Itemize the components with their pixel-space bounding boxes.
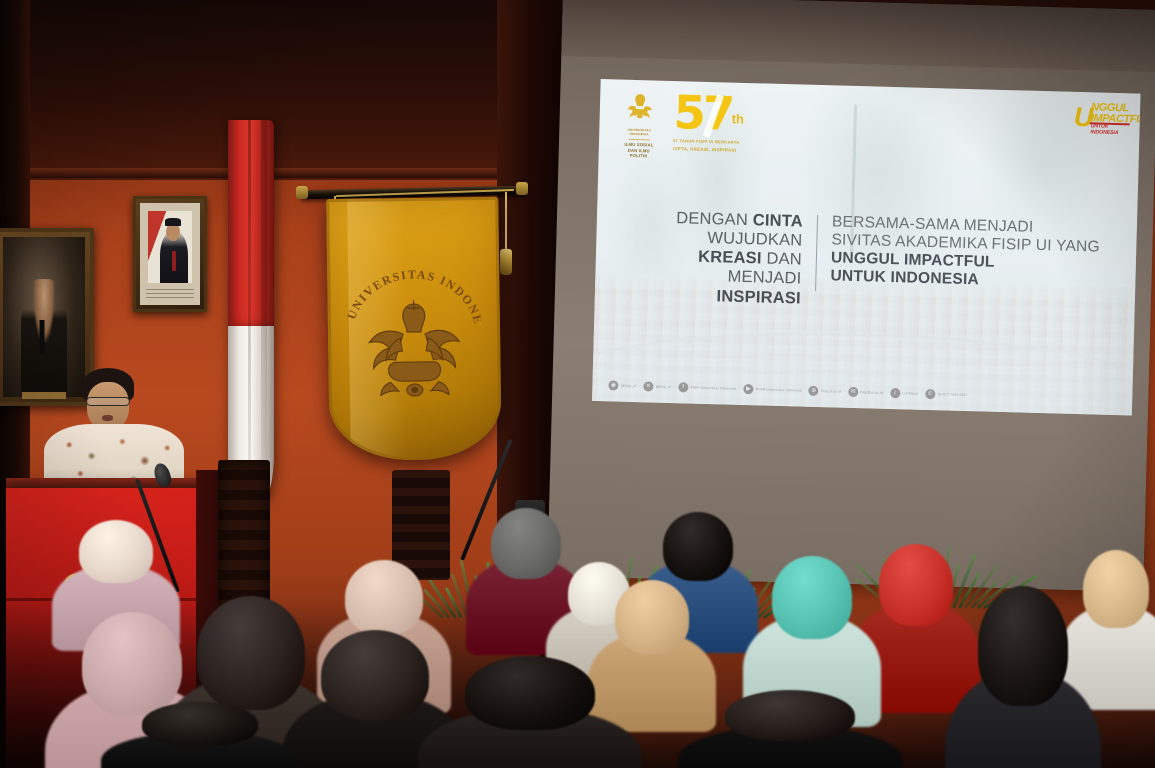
social-x-twitter: ✕@fisip_ui	[643, 381, 671, 392]
audience-person	[120, 702, 280, 768]
social-tiktok: ♪t.ui.fisipui	[890, 388, 919, 399]
social-handle-text: fisip.ui.ac.id	[821, 389, 841, 394]
social-handle-text: fisip@ui.ac.id	[860, 390, 882, 395]
speaker-mouth	[102, 415, 113, 421]
social-handle-text: @fisip_ui	[621, 384, 636, 388]
social-youtube: ▶FISIP Universitas Indonesia	[743, 384, 802, 396]
slide-headline-right: BERSAMA-SAMA MENJADI SIVITAS AKADEMIKA F…	[830, 213, 1101, 316]
headline-l1-bold: CINTA	[753, 211, 804, 230]
unggul-impactful-logo: U NGGUL IMPACTFUL UNTUK INDONESIA	[1073, 98, 1130, 145]
banner-rod-cap-right	[516, 182, 528, 195]
audience-person	[64, 520, 168, 616]
email-icon: ✉	[848, 387, 858, 397]
anniversary-caption-1: 57 TAHUN FISIP UI BERKARYA	[673, 138, 813, 147]
anniversary-suffix: th	[731, 111, 744, 126]
audience-person	[864, 544, 968, 668]
x-twitter-icon: ✕	[643, 381, 653, 391]
facebook-icon: f	[678, 382, 688, 392]
presentation-slide: UNIVERSITAS INDONESIA ILMU SOSIAL DAN IL…	[592, 79, 1141, 415]
portrait-caption	[146, 289, 194, 299]
social-whatsapp: ✆62 817 7425 0567	[925, 389, 968, 400]
instagram-icon: ◉	[608, 380, 618, 390]
headline-r4-bold: UNTUK INDONESIA	[830, 268, 979, 289]
audience-head	[1083, 550, 1149, 628]
presidential-portrait	[133, 196, 207, 312]
audience-head	[197, 596, 305, 710]
flag-fold	[248, 120, 251, 502]
banner-border	[326, 197, 502, 461]
anniversary-caption-2: CIPTA, KREASI, INSPIRASI	[673, 146, 813, 155]
social-instagram: ◉@fisip_ui	[608, 380, 636, 391]
social-handle-text: FISIP Universitas Indonesia	[756, 387, 802, 392]
social-handle-text: t.ui.fisipui	[902, 391, 918, 395]
social-website: ⊕fisip.ui.ac.id	[809, 386, 842, 397]
portrait-necktie	[172, 251, 176, 271]
headline-l3-plain: DAN	[761, 250, 802, 269]
audience-head	[615, 580, 690, 654]
audience-head	[345, 560, 423, 635]
fisip-logo-university: UNIVERSITAS INDONESIA	[617, 128, 661, 138]
whatsapp-icon: ✆	[925, 389, 935, 399]
flag-red-band	[228, 120, 274, 328]
audience-person	[700, 690, 880, 768]
audience-head	[879, 544, 954, 626]
unggul-logo-line2: UNTUK INDONESIA	[1090, 124, 1118, 137]
audience-head	[142, 702, 257, 746]
social-handle-text: @fisip_ui	[656, 385, 671, 389]
event-photo-scene: UNIVERSITAS INDONESIA	[0, 0, 1155, 768]
audience-person	[756, 556, 868, 682]
banner-tassel-right	[500, 249, 512, 275]
seated-audience	[0, 478, 1155, 768]
portrait-mat	[140, 203, 200, 305]
headline-l1-plain: DENGAN	[676, 209, 753, 229]
audience-person	[440, 656, 620, 768]
universitas-indonesia-banner: UNIVERSITAS INDONESIA	[326, 197, 502, 461]
screen-top-valance	[561, 0, 1155, 72]
social-email: ✉fisip@ui.ac.id	[848, 387, 883, 398]
audience-head	[82, 612, 183, 715]
portrait-photo	[148, 211, 192, 283]
headline-l3-bold: KREASI	[698, 248, 762, 268]
peci-cap-icon	[165, 218, 182, 226]
banner-cord-drop-right	[505, 192, 507, 250]
social-facebook: fFISIP Universitas Indonesia	[678, 382, 737, 394]
flag-fold-secondary	[261, 120, 267, 502]
slide-headline-left: DENGAN CINTA WUJUDKAN KREASI DAN MENJADI…	[631, 208, 804, 308]
anniversary-logo: 57th 57 TAHUN FISIP UI BERKARYA CIPTA, K…	[673, 89, 815, 157]
fisip-ui-logo: UNIVERSITAS INDONESIA ILMU SOSIAL DAN IL…	[617, 92, 663, 151]
social-handle-text: 62 817 7425 0567	[938, 392, 968, 397]
makara-icon	[627, 92, 654, 121]
audience-head	[465, 656, 595, 730]
audience-person	[960, 586, 1086, 768]
tiktok-icon: ♪	[890, 388, 900, 398]
audience-head	[321, 630, 429, 721]
audience-head	[725, 690, 855, 741]
fisip-logo-rule	[628, 139, 650, 141]
banner-rod-cap-left	[296, 186, 308, 199]
audience-head	[978, 586, 1069, 706]
eyeglasses-icon	[86, 397, 130, 406]
speaker-face	[87, 382, 129, 430]
audience-head	[772, 556, 853, 639]
slide-headline-divider	[815, 215, 818, 291]
website-icon: ⊕	[809, 386, 819, 396]
youtube-icon: ▶	[743, 384, 753, 394]
headline-l5-bold: INSPIRASI	[716, 287, 801, 307]
social-handle-text: FISIP Universitas Indonesia	[691, 386, 737, 391]
fisip-logo-faculty: ILMU SOSIAL DAN ILMU POLITIK	[617, 142, 661, 160]
audience-head	[663, 512, 732, 581]
indonesian-flag	[228, 120, 290, 500]
audience-head	[79, 520, 154, 583]
portrait-tie	[40, 320, 45, 354]
audience-head	[491, 508, 560, 579]
slide-headline-block: DENGAN CINTA WUJUDKAN KREASI DAN MENJADI…	[631, 208, 1117, 317]
